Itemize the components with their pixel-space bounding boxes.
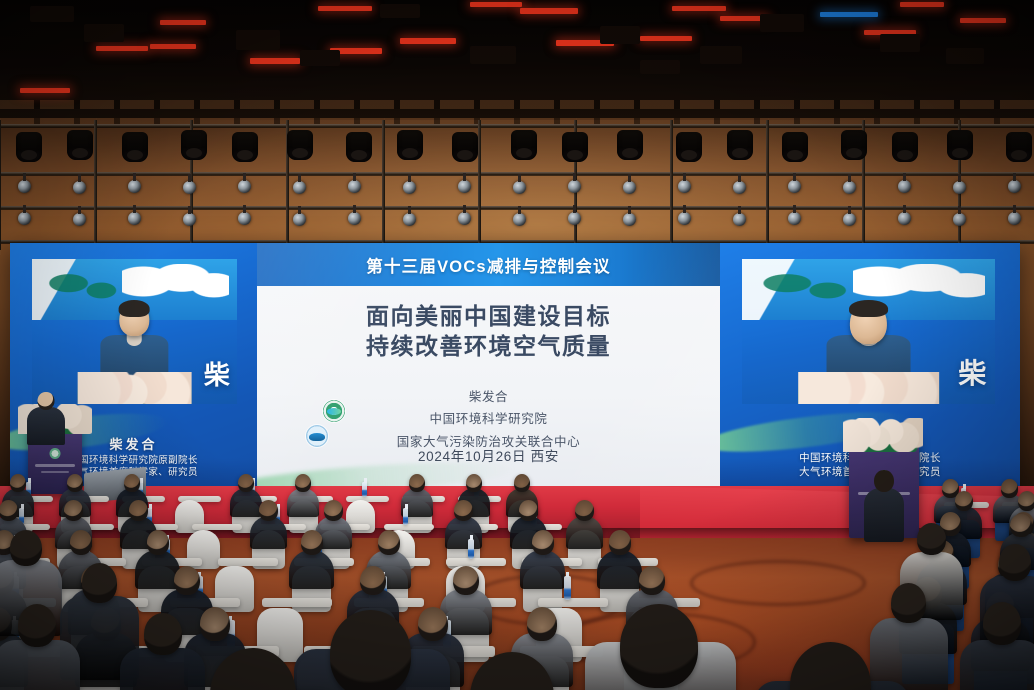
byline-affiliation-1: 中国环境科学研究院 bbox=[257, 408, 720, 430]
stage-spotlight bbox=[346, 132, 372, 162]
truss-post bbox=[766, 120, 769, 250]
par-light-stem bbox=[683, 205, 686, 213]
par-light bbox=[843, 213, 856, 226]
ceiling-fixture-box bbox=[946, 48, 984, 64]
par-light bbox=[458, 212, 471, 225]
stage-spotlight bbox=[841, 130, 867, 160]
ceiling-fixture-box bbox=[760, 14, 804, 32]
feed-watermark-left: 柴 bbox=[204, 355, 231, 392]
stage-spotlight bbox=[67, 130, 93, 160]
stage-spotlight bbox=[727, 130, 753, 160]
ceiling-light-red bbox=[20, 88, 70, 93]
par-light-stem bbox=[793, 205, 796, 213]
ceiling-fixture-box bbox=[84, 24, 124, 42]
par-light bbox=[18, 212, 31, 225]
truss-post bbox=[382, 120, 385, 250]
truss-post bbox=[0, 120, 1, 250]
par-light-stem bbox=[683, 173, 686, 181]
par-light bbox=[1008, 180, 1021, 193]
stage-spotlight bbox=[287, 130, 313, 160]
par-light bbox=[348, 180, 361, 193]
par-light bbox=[73, 181, 86, 194]
backdrop-white-splash bbox=[853, 264, 985, 302]
ceiling-fixture-box bbox=[640, 60, 680, 74]
stage-spotlight bbox=[617, 130, 643, 160]
ceiling-light-red bbox=[900, 2, 944, 7]
par-light-stem bbox=[628, 206, 631, 214]
truss-post bbox=[670, 120, 673, 250]
par-light bbox=[238, 212, 251, 225]
truss-bar-3 bbox=[0, 206, 1034, 209]
ceiling-light-red bbox=[672, 6, 726, 11]
ceiling-rail-upper bbox=[0, 100, 1034, 109]
par-light-stem bbox=[78, 206, 81, 214]
ceiling-light-red bbox=[160, 20, 206, 25]
par-light-stem bbox=[188, 206, 191, 214]
backdrop-green-splash bbox=[757, 270, 858, 303]
par-light-stem bbox=[903, 173, 906, 181]
carpet-pattern bbox=[560, 612, 756, 672]
par-light bbox=[73, 213, 86, 226]
par-light bbox=[678, 212, 691, 225]
par-light-stem bbox=[408, 174, 411, 182]
lectern-text-line bbox=[35, 464, 75, 467]
par-light-stem bbox=[188, 174, 191, 182]
par-light bbox=[403, 213, 416, 226]
par-light-stem bbox=[78, 174, 81, 182]
par-light-stem bbox=[738, 206, 741, 214]
par-light-stem bbox=[243, 205, 246, 213]
ceiling-light-red bbox=[96, 46, 148, 51]
person-head bbox=[874, 470, 894, 492]
floral-arrangement-right bbox=[843, 418, 923, 452]
stage-spotlight bbox=[511, 130, 537, 160]
hall-carpet bbox=[0, 538, 1034, 690]
conference-hall-photo: 柴 柴发合 中国环境科学研究院原副院长 大气环境首席科学家、研究员 第十三届VO… bbox=[0, 0, 1034, 690]
par-light bbox=[788, 180, 801, 193]
par-light bbox=[293, 213, 306, 226]
speaker-video-figure-left bbox=[101, 303, 169, 381]
ceiling-fixture-box bbox=[30, 6, 74, 22]
par-light bbox=[513, 213, 526, 226]
par-light-stem bbox=[573, 205, 576, 213]
par-light-stem bbox=[408, 206, 411, 214]
par-light-stem bbox=[628, 174, 631, 182]
stage-spotlight bbox=[1006, 132, 1032, 162]
par-light bbox=[843, 181, 856, 194]
par-light-stem bbox=[243, 173, 246, 181]
truss-post bbox=[94, 120, 97, 250]
speaker-hair bbox=[119, 300, 150, 317]
par-light bbox=[733, 213, 746, 226]
par-light bbox=[348, 212, 361, 225]
par-light-stem bbox=[1013, 173, 1016, 181]
stage-spotlight bbox=[232, 132, 258, 162]
par-light bbox=[458, 180, 471, 193]
conference-emblem-icon bbox=[50, 448, 61, 459]
par-light bbox=[238, 180, 251, 193]
ceiling-fixture-box bbox=[300, 50, 340, 66]
par-light-stem bbox=[518, 174, 521, 182]
ceiling-fixture-box bbox=[600, 26, 640, 44]
par-light bbox=[128, 212, 141, 225]
par-light bbox=[953, 213, 966, 226]
par-light-stem bbox=[463, 205, 466, 213]
presentation-slide: 第十三届VOCs减排与控制会议 面向美丽中国建设目标 持续改善环境空气质量 柴发… bbox=[257, 243, 720, 486]
par-light bbox=[183, 213, 196, 226]
par-light-stem bbox=[133, 173, 136, 181]
camera-feed-left: 柴 bbox=[32, 259, 237, 404]
truss-bar-1 bbox=[0, 124, 1034, 127]
par-light-stem bbox=[958, 206, 961, 214]
par-light bbox=[898, 212, 911, 225]
par-light bbox=[403, 181, 416, 194]
ceiling-light-red bbox=[960, 18, 1006, 23]
stage-spotlight bbox=[947, 130, 973, 160]
slide-title-line-2: 持续改善环境空气质量 bbox=[257, 331, 720, 361]
par-light-stem bbox=[848, 174, 851, 182]
lectern-text-line bbox=[41, 471, 69, 473]
speaker-body bbox=[27, 407, 65, 445]
ceiling-light-red bbox=[250, 58, 300, 64]
stage-spotlight bbox=[782, 132, 808, 162]
conference-title: 第十三届VOCs减排与控制会议 bbox=[366, 253, 610, 277]
par-light bbox=[953, 181, 966, 194]
par-light-stem bbox=[353, 205, 356, 213]
ceiling-light-blue bbox=[820, 12, 878, 17]
podium-flowers-in-feed-right bbox=[798, 372, 940, 404]
par-light bbox=[623, 181, 636, 194]
ceiling-fixture-box bbox=[380, 4, 420, 18]
lighting-truss bbox=[0, 120, 1034, 250]
person-body bbox=[864, 488, 904, 542]
par-light-stem bbox=[1013, 205, 1016, 213]
par-light-stem bbox=[23, 205, 26, 213]
par-light-stem bbox=[903, 205, 906, 213]
par-light-stem bbox=[23, 173, 26, 181]
person-near-lectern-right bbox=[862, 470, 906, 540]
par-light-stem bbox=[298, 174, 301, 182]
par-light bbox=[898, 180, 911, 193]
ceiling-light-red bbox=[318, 6, 372, 11]
slide-header-banner: 第十三届VOCs减排与控制会议 bbox=[257, 243, 720, 286]
par-light bbox=[1008, 212, 1021, 225]
par-light bbox=[623, 213, 636, 226]
slide-title-line-1: 面向美丽中国建设目标 bbox=[257, 301, 720, 331]
camera-feed-right: 柴 bbox=[742, 259, 995, 404]
speaker-hair bbox=[849, 300, 887, 317]
par-light bbox=[128, 180, 141, 193]
par-light bbox=[18, 180, 31, 193]
stage-spotlight bbox=[122, 132, 148, 162]
speaker-video-figure-right bbox=[827, 303, 910, 381]
ceiling-fixture-box bbox=[880, 34, 920, 52]
par-light bbox=[678, 180, 691, 193]
stage-spotlight bbox=[676, 132, 702, 162]
par-light bbox=[513, 181, 526, 194]
stage-spotlight bbox=[397, 130, 423, 160]
speaker-at-lectern bbox=[25, 392, 67, 444]
backdrop-green-splash bbox=[44, 270, 126, 303]
stage-spotlight bbox=[892, 132, 918, 162]
stage-spotlight bbox=[452, 132, 478, 162]
byline-speaker-name: 柴发合 bbox=[257, 386, 720, 408]
par-light-stem bbox=[793, 173, 796, 181]
truss-post bbox=[478, 120, 481, 250]
slide-date-location: 2024年10月26日 西安 bbox=[257, 445, 720, 465]
par-light-stem bbox=[353, 173, 356, 181]
ceiling-fixture-box bbox=[236, 30, 280, 50]
par-light-stem bbox=[518, 206, 521, 214]
par-light-stem bbox=[848, 206, 851, 214]
par-light bbox=[568, 212, 581, 225]
ceiling-light-red bbox=[520, 8, 578, 14]
podium-flowers-in-feed-left bbox=[77, 372, 192, 404]
ceiling-fixture-box bbox=[470, 46, 516, 64]
par-light-stem bbox=[133, 205, 136, 213]
par-light bbox=[293, 181, 306, 194]
backdrop-white-splash bbox=[122, 264, 229, 302]
ceiling-fixture-box bbox=[700, 46, 742, 64]
speaker-head bbox=[38, 392, 55, 410]
carpet-pattern bbox=[690, 560, 866, 606]
feed-watermark-right: 柴 bbox=[958, 352, 987, 392]
par-light bbox=[183, 181, 196, 194]
ceiling-light-red bbox=[150, 44, 196, 49]
stage-spotlight bbox=[562, 132, 588, 162]
stage-spotlight bbox=[181, 130, 207, 160]
par-light-stem bbox=[738, 174, 741, 182]
par-light bbox=[733, 181, 746, 194]
par-light-stem bbox=[463, 173, 466, 181]
ceiling-light-red bbox=[640, 36, 692, 41]
par-light bbox=[568, 180, 581, 193]
par-light-stem bbox=[573, 173, 576, 181]
slide-main-title: 面向美丽中国建设目标 持续改善环境空气质量 bbox=[257, 301, 720, 362]
stage-spotlight bbox=[16, 132, 42, 162]
ceiling-light-red bbox=[400, 38, 456, 44]
par-light bbox=[788, 212, 801, 225]
par-light-stem bbox=[298, 206, 301, 214]
slide-byline: 柴发合 中国环境科学研究院 国家大气污染防治攻关联合中心 bbox=[257, 386, 720, 453]
truss-bar-2 bbox=[0, 172, 1034, 175]
par-light-stem bbox=[958, 174, 961, 182]
ceiling-light-red bbox=[470, 2, 522, 7]
